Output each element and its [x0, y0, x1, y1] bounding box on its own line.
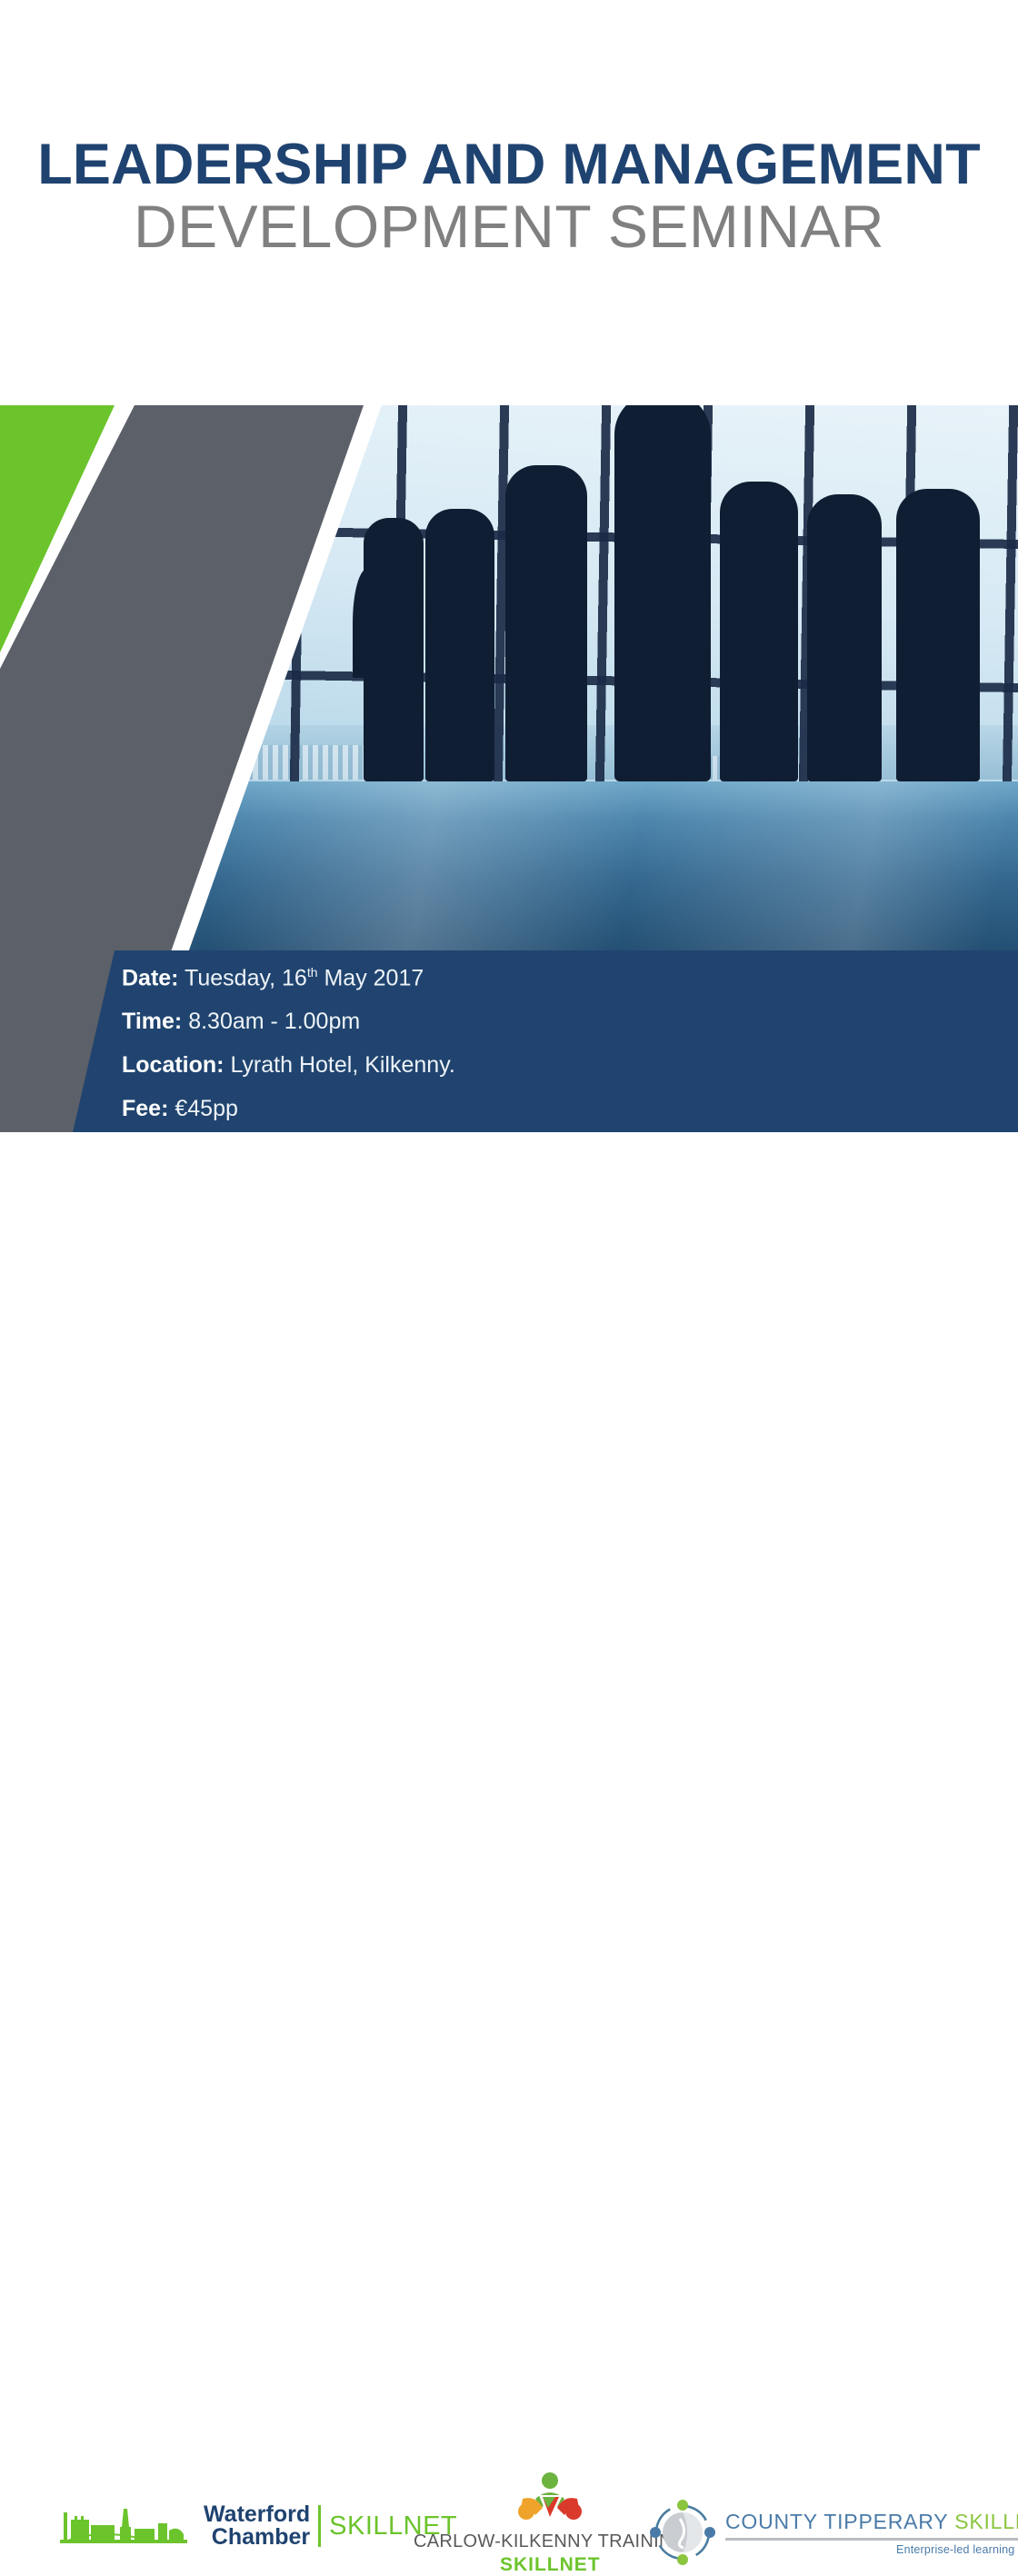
location-value: Lyrath Hotel, Kilkenny.: [230, 1052, 454, 1078]
fee-label: Fee:: [122, 1096, 168, 1121]
location-label: Location:: [122, 1052, 225, 1078]
tipperary-wordmark: COUNTY TIPPERARY SKILLNET Enterprise-led…: [725, 2510, 1018, 2556]
logo-waterford-chamber-skillnet: Waterford Chamber SKILLNET: [56, 2503, 457, 2549]
carlow-kilkenny-skillnet-label: SKILLNET: [500, 2554, 601, 2576]
silhouette-reflection: [505, 574, 587, 725]
waterford-line1: Waterford: [204, 2503, 310, 2526]
carlow-kilkenny-line1: CARLOW-KILKENNY TRAINING: [414, 2531, 687, 2552]
detail-row-fee: Fee: €45pp: [122, 1098, 849, 1120]
tipperary-name: COUNTY TIPPERARY: [725, 2510, 954, 2533]
tipperary-skillnet-label: SKILLNET: [954, 2510, 1018, 2533]
title-line-primary: LEADERSHIP AND MANAGEMENT: [0, 136, 1018, 194]
logo-county-tipperary-skillnet: COUNTY TIPPERARY SKILLNET Enterprise-led…: [647, 2497, 1018, 2568]
detail-row-location: Location: Lyrath Hotel, Kilkenny.: [122, 1054, 849, 1077]
detail-row-time: Time: 8.30am - 1.00pm: [122, 1010, 849, 1033]
fee-value: €45pp: [175, 1096, 238, 1121]
date-value-pre: Tuesday, 16: [185, 965, 307, 990]
tipperary-tagline: Enterprise-led learning network: [725, 2543, 1018, 2556]
three-people-group-icon: [512, 2472, 588, 2528]
silhouette-reflection: [807, 574, 882, 718]
silhouette-reflection: [425, 574, 494, 716]
silhouette-reflection: [614, 574, 711, 738]
time-label: Time:: [122, 1009, 182, 1034]
waterford-chamber-name: Waterford Chamber: [204, 2503, 310, 2549]
logo-carlow-kilkenny-training-skillnet: CARLOW-KILKENNY TRAINING SKILLNET: [414, 2472, 687, 2576]
tipperary-divider: [725, 2538, 1018, 2541]
page-title: LEADERSHIP AND MANAGEMENT DEVELOPMENT SE…: [0, 136, 1018, 261]
silhouette-reflection: [720, 574, 798, 720]
date-value-post: May 2017: [318, 965, 424, 990]
waterford-line2: Chamber: [204, 2526, 310, 2549]
tipperary-globe-network-icon: [647, 2497, 718, 2568]
detail-row-date: Date: Tuesday, 16th May 2017: [122, 966, 849, 990]
waterford-skyline-icon: [56, 2505, 191, 2547]
sponsor-logos: Waterford Chamber SKILLNET CARLOW-KILKEN…: [0, 1228, 1018, 1383]
tipperary-name-row: COUNTY TIPPERARY SKILLNET: [725, 2510, 1018, 2534]
time-value: 8.30am - 1.00pm: [188, 1009, 360, 1034]
date-label: Date:: [122, 965, 179, 990]
event-details-list: Date: Tuesday, 16th May 2017 Time: 8.30a…: [122, 966, 849, 1141]
waterford-divider: [318, 2505, 321, 2547]
title-line-secondary: DEVELOPMENT SEMINAR: [0, 194, 1018, 261]
silhouette-reflection: [896, 574, 980, 721]
silhouette-reflection: [364, 574, 424, 711]
date-ordinal-suffix: th: [307, 965, 318, 980]
